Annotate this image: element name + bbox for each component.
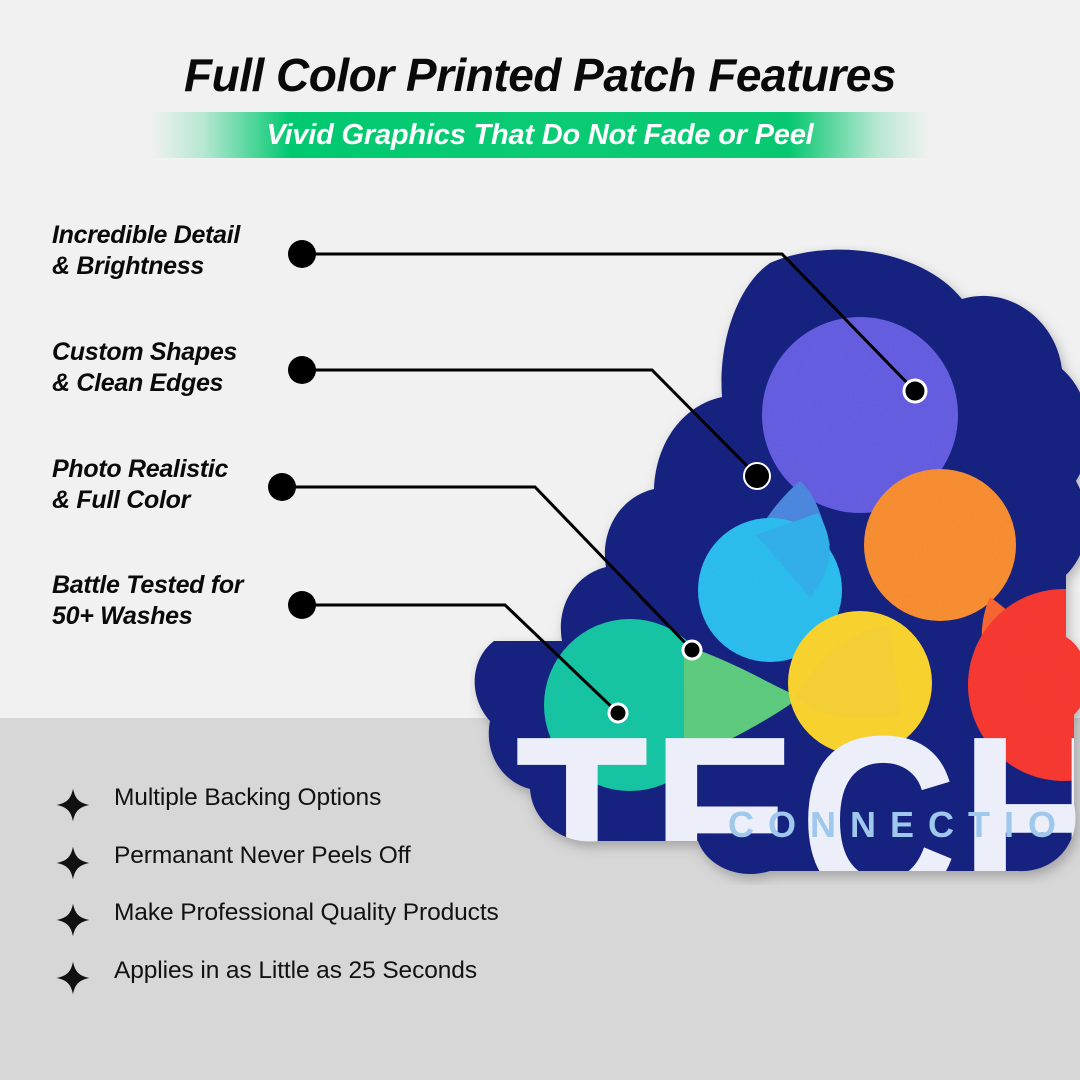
sparkle-star-icon [56, 846, 90, 880]
feature-bullet-list: Multiple Backing Options Permanant Never… [52, 780, 672, 1010]
list-item: Make Professional Quality Products [52, 895, 672, 953]
callout-4-line-2: 50+ Washes [52, 601, 243, 632]
sparkle-star-icon [56, 788, 90, 822]
bullet-label-1: Multiple Backing Options [114, 784, 381, 812]
leader-path-4 [302, 605, 618, 713]
leader-origin-dot-2 [288, 356, 316, 384]
leader-origin-dot-1 [288, 240, 316, 268]
callout-1-line-2: & Brightness [52, 251, 240, 282]
bullet-label-4: Applies in as Little as 25 Seconds [114, 957, 477, 985]
callout-2-line-1: Custom Shapes [52, 337, 237, 368]
leader-path-2 [302, 370, 757, 476]
bullet-label-2: Permanant Never Peels Off [114, 842, 411, 870]
callout-2: Custom Shapes & Clean Edges [52, 337, 237, 398]
callout-3-line-1: Photo Realistic [52, 454, 228, 485]
infographic-canvas: TECHH CONNECTIO Full Color Printed Patch… [0, 0, 1080, 1080]
leader-path-3 [282, 487, 692, 650]
callout-1: Incredible Detail & Brightness [52, 220, 240, 281]
callout-1-line-1: Incredible Detail [52, 220, 240, 251]
callout-3: Photo Realistic & Full Color [52, 454, 228, 515]
leader-origin-dot-3 [268, 473, 296, 501]
leader-endpoint-dot-2 [744, 463, 770, 489]
callout-4: Battle Tested for 50+ Washes [52, 570, 243, 631]
sparkle-star-icon [56, 903, 90, 937]
leader-endpoint-dot-4 [609, 704, 627, 722]
callout-4-line-1: Battle Tested for [52, 570, 243, 601]
list-item: Applies in as Little as 25 Seconds [52, 953, 672, 1011]
bullet-label-3: Make Professional Quality Products [114, 899, 499, 927]
leader-origin-dot-4 [288, 591, 316, 619]
sparkle-star-icon [56, 961, 90, 995]
list-item: Multiple Backing Options [52, 780, 672, 838]
leader-endpoint-dot-3 [683, 641, 701, 659]
leader-endpoint-dot-1 [904, 380, 926, 402]
callout-3-line-2: & Full Color [52, 485, 228, 516]
callout-2-line-2: & Clean Edges [52, 368, 237, 399]
list-item: Permanant Never Peels Off [52, 838, 672, 896]
